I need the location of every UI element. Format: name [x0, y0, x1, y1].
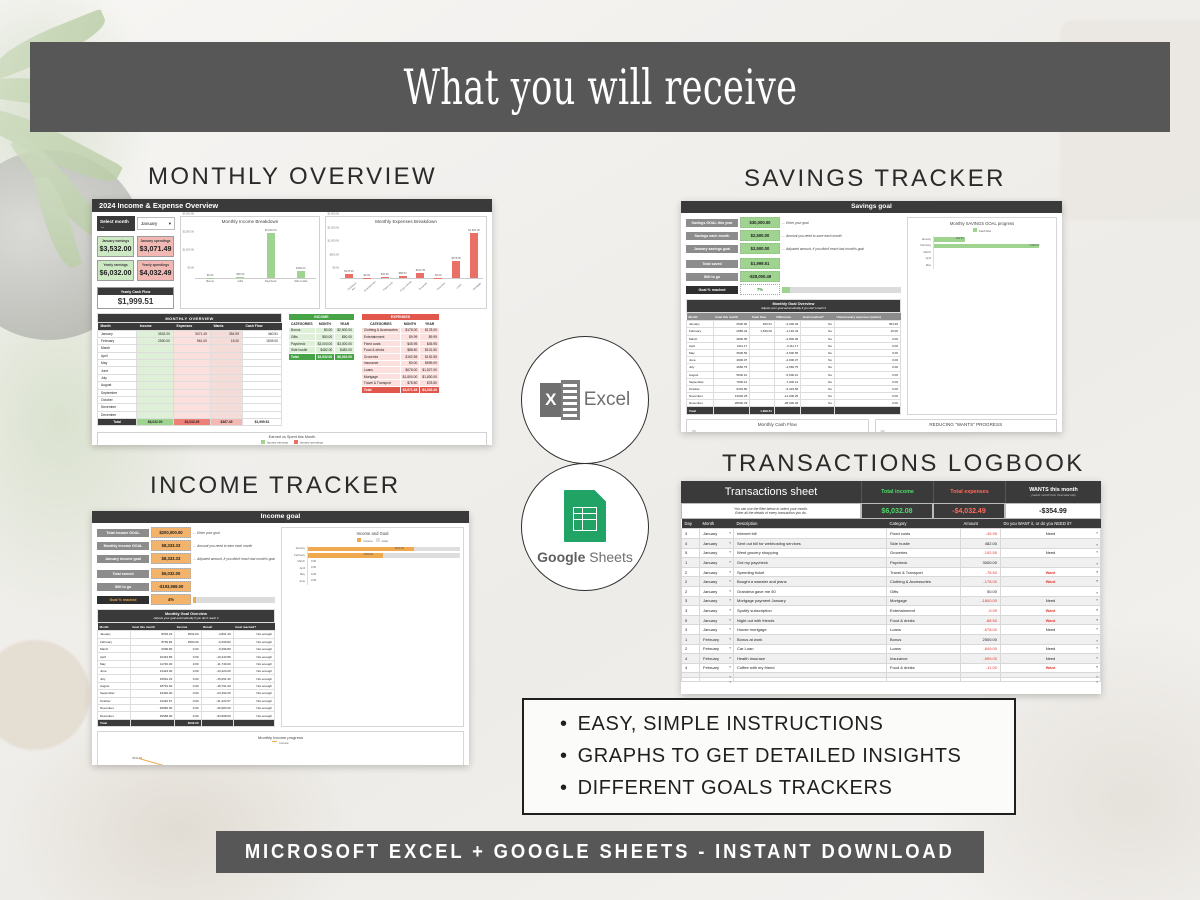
table-cell: 3532.00 [175, 631, 201, 638]
cell-amount[interactable]: -78.50 [961, 567, 1001, 577]
table-cell: $101.50 [420, 347, 440, 354]
cell-month[interactable]: January [700, 586, 734, 596]
table-cell: 0.00 [835, 385, 901, 392]
cell-empty[interactable] [682, 677, 700, 682]
table-cell: March [98, 645, 131, 652]
cell-category[interactable]: Loans [887, 644, 961, 654]
row-label: February [911, 244, 933, 247]
goal-row[interactable]: Total income GOAL$200,000.00← Enter your… [97, 527, 275, 538]
goal-value[interactable]: $2,500.00 [740, 230, 780, 241]
bar-value-label: $678.00 [451, 257, 460, 260]
chart-row: June0.00 [285, 578, 460, 585]
table-row: Clothing & Accessories$178.00$178.00 [361, 327, 439, 334]
income-goal-title: Income goal [92, 511, 469, 523]
income-still-to-go-row: Still to go -$193,968.00 [97, 581, 275, 592]
bar-value-label: 0.00 [311, 566, 316, 569]
cell-day[interactable]: 4 [682, 663, 700, 673]
table-caption: Monthly Goal OverviewAdjusts your goal a… [98, 610, 275, 623]
table-header-row: MonthIncomeExpensesWantsCash Flow [98, 322, 282, 330]
cell-amount[interactable]: -849.00 [961, 644, 1001, 654]
table-cell: $0.00 [400, 360, 420, 367]
cell-month[interactable]: January [700, 558, 734, 568]
cell-want-need[interactable]: Need [1001, 548, 1101, 558]
table-cell: -6,269.82 [201, 638, 233, 645]
table-cell [243, 345, 282, 352]
table-caption-row: Monthly Goal OverviewAdjusts your goal a… [687, 300, 901, 313]
y-tick: $2,000.00 [182, 231, 194, 234]
column-header: CATEGORIES [361, 320, 400, 327]
month-selector[interactable]: Select month → January ▾ [97, 216, 175, 231]
cell-want-need[interactable]: Need [1001, 625, 1101, 635]
table-row[interactable]: 3JanuaryInternet billFixed costs-45.95Ne… [682, 529, 1101, 539]
chart-legend: Cash flow [911, 228, 1053, 233]
cell-want-need[interactable] [1001, 634, 1101, 644]
excel-icon: X [540, 380, 580, 420]
table-cell: Side hustle [289, 347, 316, 354]
table-row: May [98, 360, 282, 367]
income-tracker-sheet[interactable]: Income goal Total income GOAL$200,000.00… [92, 511, 469, 765]
table-row: Travel & Transport$78.50$78.50 [361, 380, 439, 387]
savings-tracker-sheet[interactable]: Savings goal Savings GOAL this year$30,0… [681, 201, 1062, 432]
cell-month[interactable]: January [700, 567, 734, 577]
kpi-label: Yearly earnings [99, 263, 132, 267]
table-cell: Not enough [233, 645, 274, 652]
goal-row[interactable]: January savings goal$2,500.00← Adjusted … [686, 243, 901, 254]
table-cell [210, 382, 242, 389]
table-cell [750, 371, 775, 378]
column-header: Month [98, 322, 137, 330]
cell-category[interactable]: Food & drinks [887, 663, 961, 673]
cell-description[interactable]: Went grocery shopping [734, 548, 887, 558]
x-tick: Side hustle [293, 280, 309, 283]
chart-bar: $88.50 [399, 276, 407, 278]
table-cell: Gifts [289, 334, 316, 341]
table-row[interactable]: 1FebruaryBonus at workBonus2500.00 [682, 634, 1101, 644]
cell-want-need[interactable]: Need [1001, 596, 1101, 606]
cell-description[interactable]: Sent out bill for webhosting services [734, 538, 887, 548]
chart-legend: Income Goal [285, 538, 460, 543]
table-row[interactable]: 4FebruaryCoffee with my friendFood & dri… [682, 663, 1101, 673]
table-caption-row: INCOME [289, 314, 355, 321]
cell-want-need[interactable] [1001, 538, 1101, 548]
table-cell [750, 385, 775, 392]
cell-description[interactable]: Got my paycheck [734, 558, 887, 568]
cell-empty[interactable] [887, 677, 961, 682]
table-cell: No [801, 385, 835, 392]
table-cell [201, 719, 233, 726]
table-cell [233, 719, 274, 726]
cell-category[interactable]: Side hustle [887, 538, 961, 548]
table-cell [750, 357, 775, 364]
table-cell [173, 374, 210, 381]
kpi-card: Yearly earnings$6,032.00 [97, 260, 134, 281]
cell-amount[interactable]: -45.95 [961, 529, 1001, 539]
bar-value-label: $178.00 [344, 270, 353, 273]
table-cell: May [98, 360, 137, 367]
cell-amount[interactable]: -599.00 [961, 654, 1001, 664]
table-total-row: Total1,999.51 [687, 407, 901, 414]
table-cell: Travel & Transport [361, 380, 400, 387]
month-dropdown-value: January [141, 221, 157, 227]
table-cell: -28,000.49 [774, 400, 800, 407]
table-cell: Not enough [233, 653, 274, 660]
table-cell [173, 352, 210, 359]
table-cell: 0.00 [175, 660, 201, 667]
column-header: Amount [961, 519, 1001, 529]
table-row: September23492.000.00-23,492.00Not enoug… [98, 690, 275, 697]
cell-amount[interactable]: -178.00 [961, 577, 1001, 587]
table-row: August [98, 382, 282, 389]
table-cell [130, 719, 175, 726]
table-row: April3111.17-3,111.17No0.00 [687, 342, 901, 349]
reducing-wants-progress-chart: REDUCING "WANTS" PROGRESS 400 300 354.99 [875, 419, 1058, 432]
bar-value-label: $50.00 [236, 273, 244, 276]
table-cell [774, 407, 800, 414]
goal-row[interactable]: January income goal$8,333.33← Adjusted a… [97, 553, 275, 564]
transactions-table[interactable]: DayMonthDescriptionCategoryAmountDo you … [681, 519, 1101, 682]
cell-day[interactable]: 5 [682, 548, 700, 558]
table-row: May11740.000.00-11,740.00Not enough [98, 660, 275, 667]
google-sheets-badge: Google Sheets [521, 463, 649, 591]
bar-value-label: 0.00 [311, 579, 316, 582]
cell-category[interactable]: Clothing & Accessories [887, 577, 961, 587]
chart-x-axis: Clothing & Acc.EntertainmentFixed costsF… [340, 280, 483, 292]
y-tick: $1,000.00 [327, 240, 339, 243]
table-cell: $50.00 [315, 334, 335, 341]
cell-description[interactable]: Health Insurace [734, 654, 887, 664]
goal-label: January savings goal [686, 245, 738, 253]
chart-title: Monthly Income Breakdown [184, 219, 316, 224]
table-cell: $3,000.00 [335, 340, 355, 347]
table-row[interactable]: 1JanuaryGot my paycheckPaycheck3000.00 [682, 558, 1101, 568]
cell-day[interactable]: 1 [682, 634, 700, 644]
cell-want-need[interactable]: Need [1001, 654, 1101, 664]
table-row: March9396.800.00-9,396.80Not enough [98, 645, 275, 652]
column-header: MONTH [315, 320, 335, 327]
cell-month[interactable]: January [700, 538, 734, 548]
column-header: Wants [210, 322, 242, 330]
table-cell: 11740.00 [130, 660, 175, 667]
table-row[interactable]: 3JanuaryMortgage payment JanuaryMortgage… [682, 596, 1101, 606]
cell-category[interactable]: Bonus [887, 634, 961, 644]
goal-value[interactable]: $30,000.00 [740, 217, 780, 228]
table-cell: March [687, 335, 714, 342]
goal-value[interactable]: $8,333.33 [151, 540, 191, 551]
cell-description[interactable]: Spotify subscription [734, 606, 887, 616]
cell-want-need[interactable]: Want [1001, 663, 1101, 673]
table-header-row: CATEGORIESMONTHYEAR [289, 320, 355, 327]
cell-category[interactable]: Loans [887, 625, 961, 635]
chart-bar: $1,800.00 [470, 233, 478, 278]
cell-want-need[interactable]: Want [1001, 567, 1101, 577]
cell-category[interactable]: Fixed costs [887, 529, 961, 539]
cell-month[interactable]: January [700, 596, 734, 606]
cell-empty[interactable] [700, 677, 734, 682]
table-cell: $599.00 [420, 360, 440, 367]
table-row[interactable]: 2JanuaryBought a sweater and jeansClothi… [682, 577, 1101, 587]
table-cell: 14000.25 [713, 393, 749, 400]
cell-category[interactable]: Groceries [887, 548, 961, 558]
income-and-goal-chart: Income and Goal Income Goal January3532.… [281, 527, 464, 727]
cell-amount[interactable]: -88.50 [961, 615, 1001, 625]
goal-value[interactable]: $2,500.00 [740, 243, 780, 254]
total-income-header: Total income [861, 481, 933, 503]
y-tick: $2,000.00 [327, 213, 339, 216]
bar-fill [399, 276, 407, 278]
cell-day[interactable]: 1 [682, 558, 700, 568]
table-cell: Entertainment [361, 334, 400, 341]
bar-fill [206, 278, 214, 279]
cell-description[interactable]: House mortgage [734, 625, 887, 635]
y-tick: $0.00 [188, 267, 195, 270]
table-cell: -10,443.89 [201, 653, 233, 660]
cell-day[interactable]: 2 [682, 577, 700, 587]
table-cell [173, 411, 210, 418]
cell-amount[interactable]: -678.00 [961, 625, 1001, 635]
table-row[interactable]: 2JanuarySpeeding ticketTravel & Transpor… [682, 567, 1101, 577]
table-cell: September [687, 378, 714, 385]
cell-month[interactable]: February [700, 654, 734, 664]
table-cell: October [98, 697, 131, 704]
income-goal-inputs[interactable]: Total income GOAL$200,000.00← Enter your… [97, 527, 275, 564]
table-row[interactable]: 4JanuarySent out bill for webhosting ser… [682, 538, 1101, 548]
cell-amount[interactable]: -9.99 [961, 606, 1001, 616]
goal-note: ← Adjusted amount, if you didn't reach l… [193, 557, 275, 561]
table-cell: 0.00 [835, 357, 901, 364]
cell-description[interactable]: Coffee with my friend [734, 663, 887, 673]
table-cell: 15.00 [835, 328, 901, 335]
cell-amount[interactable]: 50.00 [961, 586, 1001, 596]
cell-month[interactable]: January [700, 577, 734, 587]
table-cell: November [98, 704, 131, 711]
table-cell: 9396.80 [130, 645, 175, 652]
table-row[interactable]: 3JanuarySpotify subscriptionEntertainmen… [682, 606, 1101, 616]
bar-fill [452, 261, 460, 278]
table-cell: 0.00 [175, 682, 201, 689]
table-cell [210, 389, 242, 396]
monthly-income-breakdown-chart: Monthly Income Breakdown $0.00$1,000.00$… [180, 216, 320, 309]
cell-amount[interactable]: -1800.00 [961, 596, 1001, 606]
cell-description[interactable]: Car Loan [734, 644, 887, 654]
table-cell: February [98, 337, 137, 344]
cell-day[interactable]: 2 [682, 586, 700, 596]
feature-item: EASY, SIMPLE INSTRUCTIONS [560, 713, 1014, 736]
table-cell: 8769.82 [130, 638, 175, 645]
chart-bar: $3,000.00 [267, 233, 275, 278]
cell-day[interactable]: 3 [682, 596, 700, 606]
cell-description[interactable]: Mortgage payment January [734, 596, 887, 606]
table-cell: 2685.43 [713, 328, 749, 335]
cell-category[interactable]: Entertainment [887, 606, 961, 616]
cell-category[interactable]: Mortgage [887, 596, 961, 606]
goal-row[interactable]: Monthly income GOAL$8,333.33← Amount you… [97, 540, 275, 551]
table-cell: -46,984.00 [201, 704, 233, 711]
cell-day[interactable]: 5 [682, 615, 700, 625]
table-row: February8769.822500.00-6,269.82Not enoug… [98, 638, 275, 645]
table-cell: $4,032.49 [173, 419, 210, 426]
table-row-empty[interactable] [682, 677, 1101, 682]
table-row[interactable]: 2JanuaryGrandma gave me 50Gifts50.00 [682, 586, 1101, 596]
cell-day[interactable]: 3 [682, 529, 700, 539]
table-cell: Total [289, 353, 316, 360]
table-cell: 3500.56 [713, 349, 749, 356]
cell-day[interactable]: 2 [682, 644, 700, 654]
bar-fill [470, 233, 478, 278]
goal-note: ← Adjusted amount, if you didn't reach l… [782, 247, 864, 251]
table-cell: 460.51 [750, 321, 775, 328]
transactions-sheet[interactable]: Transactions sheet Total income Total ex… [681, 481, 1101, 694]
chart-bar: $0.00 [434, 278, 442, 279]
goal-row[interactable]: Savings each month$2,500.00← Amount you … [686, 230, 901, 241]
cell-want-need[interactable]: Want [1001, 615, 1101, 625]
section-title-income-tracker: INCOME TRACKER [150, 472, 401, 500]
cell-month[interactable]: January [700, 625, 734, 635]
table-cell: October [687, 385, 714, 392]
table-cell [210, 352, 242, 359]
table-row[interactable]: 5JanuaryWent grocery shoppingGroceries-1… [682, 548, 1101, 558]
chart-plot: $0.00$50.00$3,000.00$482.00 [195, 225, 316, 279]
table-cell: Total [98, 719, 131, 726]
cell-amount[interactable]: -192.55 [961, 548, 1001, 558]
table-cell [750, 342, 775, 349]
chart-legend: January earnings January spendings [102, 440, 482, 445]
cell-empty[interactable] [961, 677, 1001, 682]
month-dropdown[interactable]: January ▾ [137, 217, 175, 230]
table-cell: August [98, 682, 131, 689]
cell-month[interactable]: February [700, 644, 734, 654]
cell-description[interactable]: Night out with friends [734, 615, 887, 625]
cell-want-need[interactable]: Need [1001, 529, 1101, 539]
cell-description[interactable]: Bought a sweater and jeans [734, 577, 887, 587]
cell-category[interactable]: Paycheck [887, 558, 961, 568]
cell-want-need[interactable] [1001, 586, 1101, 596]
table-cell: -93,968.00 [201, 712, 233, 719]
table-row[interactable]: 2FebruaryCar LoanLoans-849.00Need [682, 644, 1101, 654]
table-row[interactable]: 4FebruaryHealth InsuraceInsurance-599.00… [682, 654, 1101, 664]
cell-day[interactable]: 3 [682, 606, 700, 616]
goal-row[interactable]: Savings GOAL this year$30,000.00← Enter … [686, 217, 901, 228]
table-cell: 8333.33 [130, 631, 175, 638]
cell-description[interactable]: Internet bill [734, 529, 887, 539]
cell-day[interactable]: 2 [682, 567, 700, 577]
cell-category[interactable]: Gifts [887, 586, 961, 596]
cell-month[interactable]: January [700, 615, 734, 625]
table-cell: No [801, 357, 835, 364]
table-row: October [98, 396, 282, 403]
table-cell: -31,322.67 [201, 697, 233, 704]
monthly-expenses-breakdown-chart: Monthly Expenses Breakdown $0.00$500.00$… [325, 216, 487, 309]
table-row: March2800.05-2,800.05No0.00 [687, 335, 901, 342]
cell-empty[interactable] [734, 677, 887, 682]
cell-description[interactable]: Bonus at work [734, 634, 887, 644]
table-cell: Not enough [233, 704, 274, 711]
goal-value[interactable]: $8,333.33 [151, 553, 191, 564]
table-cell: $4,032.49 [420, 386, 440, 393]
table-cell: -14,000.25 [774, 393, 800, 400]
table-cell: 28000.49 [713, 400, 749, 407]
table-header-row: CATEGORIESMONTHYEAR [361, 320, 439, 327]
total-expenses-value: -$4,032.49 [933, 503, 1005, 519]
table-cell: 0.00 [835, 342, 901, 349]
cell-amount[interactable]: 3000.00 [961, 558, 1001, 568]
table-cell: 0.00 [175, 697, 201, 704]
table-cell [210, 367, 242, 374]
table-cell: 0.00 [835, 393, 901, 400]
cell-want-need[interactable] [1001, 558, 1101, 568]
table-cell: No [801, 400, 835, 407]
cell-want-need[interactable]: Want [1001, 577, 1101, 587]
cell-month[interactable]: January [700, 529, 734, 539]
cell-day[interactable]: 4 [682, 538, 700, 548]
income-goal-percent-value: 4% [151, 594, 191, 605]
table-cell: October [98, 396, 137, 403]
cell-day[interactable]: 3 [682, 625, 700, 635]
cell-month[interactable]: February [700, 663, 734, 673]
cell-want-need[interactable]: Need [1001, 644, 1101, 654]
table-row: August18791.600.00-18,791.60Not enough [98, 682, 275, 689]
table-cell: $678.00 [400, 367, 420, 374]
kpi-value: $3,071.49 [139, 244, 172, 253]
legend-goal: Goal [376, 539, 388, 543]
cell-category[interactable]: Travel & Transport [887, 567, 961, 577]
cell-want-need[interactable]: Want [1001, 606, 1101, 616]
cell-empty[interactable] [1001, 677, 1101, 682]
column-header: Unnecessary expenses (wants) [835, 313, 901, 321]
cell-amount[interactable]: 2500.00 [961, 634, 1001, 644]
section-title-monthly-overview: MONTHLY OVERVIEW [148, 163, 437, 191]
table-caption: MONTHLY OVERVIEW [98, 314, 282, 322]
row-track: 0.00 [307, 578, 460, 585]
table-cell [173, 396, 210, 403]
bar-fill [934, 244, 1039, 249]
feature-item: GRAPHS TO GET DETAILED INSIGHTS [560, 745, 1014, 768]
table-cell: -2,039.49 [774, 321, 800, 328]
cell-category[interactable]: Insurance [887, 654, 961, 664]
total-earned-row: Total earned $6,032.00 [97, 568, 275, 579]
goal-label: Total income GOAL [97, 529, 149, 537]
goal-value[interactable]: $200,000.00 [151, 527, 191, 538]
cell-month[interactable]: February [700, 634, 734, 644]
table-cell: $78.50 [400, 380, 420, 387]
cell-category[interactable]: Food & drinks [887, 615, 961, 625]
cell-day[interactable]: 4 [682, 654, 700, 664]
table-row[interactable]: 5JanuaryNight out with friendsFood & dri… [682, 615, 1101, 625]
table-cell: November [687, 393, 714, 400]
caption-sub: Adjusts your goal automatically if you d… [689, 306, 898, 310]
cell-month[interactable]: January [700, 548, 734, 558]
bar-value-label: 2500.00 [364, 553, 373, 556]
table-cell: -7,000.12 [774, 378, 800, 385]
table-row: July [98, 374, 282, 381]
table-cell [750, 364, 775, 371]
decor-stone [0, 640, 90, 750]
chart-y-axis: $0.00$500.00$1,000.00$1,500.00$2,000.00 [329, 225, 340, 279]
cell-description[interactable]: Speeding ticket [734, 567, 887, 577]
row-label: May [911, 264, 933, 267]
cell-month[interactable]: January [700, 606, 734, 616]
bar-value-label: 1,539.00 [1029, 244, 1039, 247]
savings-goal-inputs[interactable]: Savings GOAL this year$30,000.00← Enter … [686, 217, 901, 254]
cell-amount[interactable]: 482.00 [961, 538, 1001, 548]
monthly-overview-sheet[interactable]: 2024 Income & Expense Overview Select mo… [92, 199, 492, 445]
table-row[interactable]: 3JanuaryHouse mortgageLoans-678.00Need [682, 625, 1101, 635]
cell-amount[interactable]: -11.00 [961, 663, 1001, 673]
table-cell [137, 382, 174, 389]
cell-description[interactable]: Grandma gave me 50 [734, 586, 887, 596]
table-cell: 93968.00 [130, 712, 175, 719]
x-tick: Paycheck [263, 280, 279, 283]
table-row: Insurance$0.00$599.00 [361, 360, 439, 367]
